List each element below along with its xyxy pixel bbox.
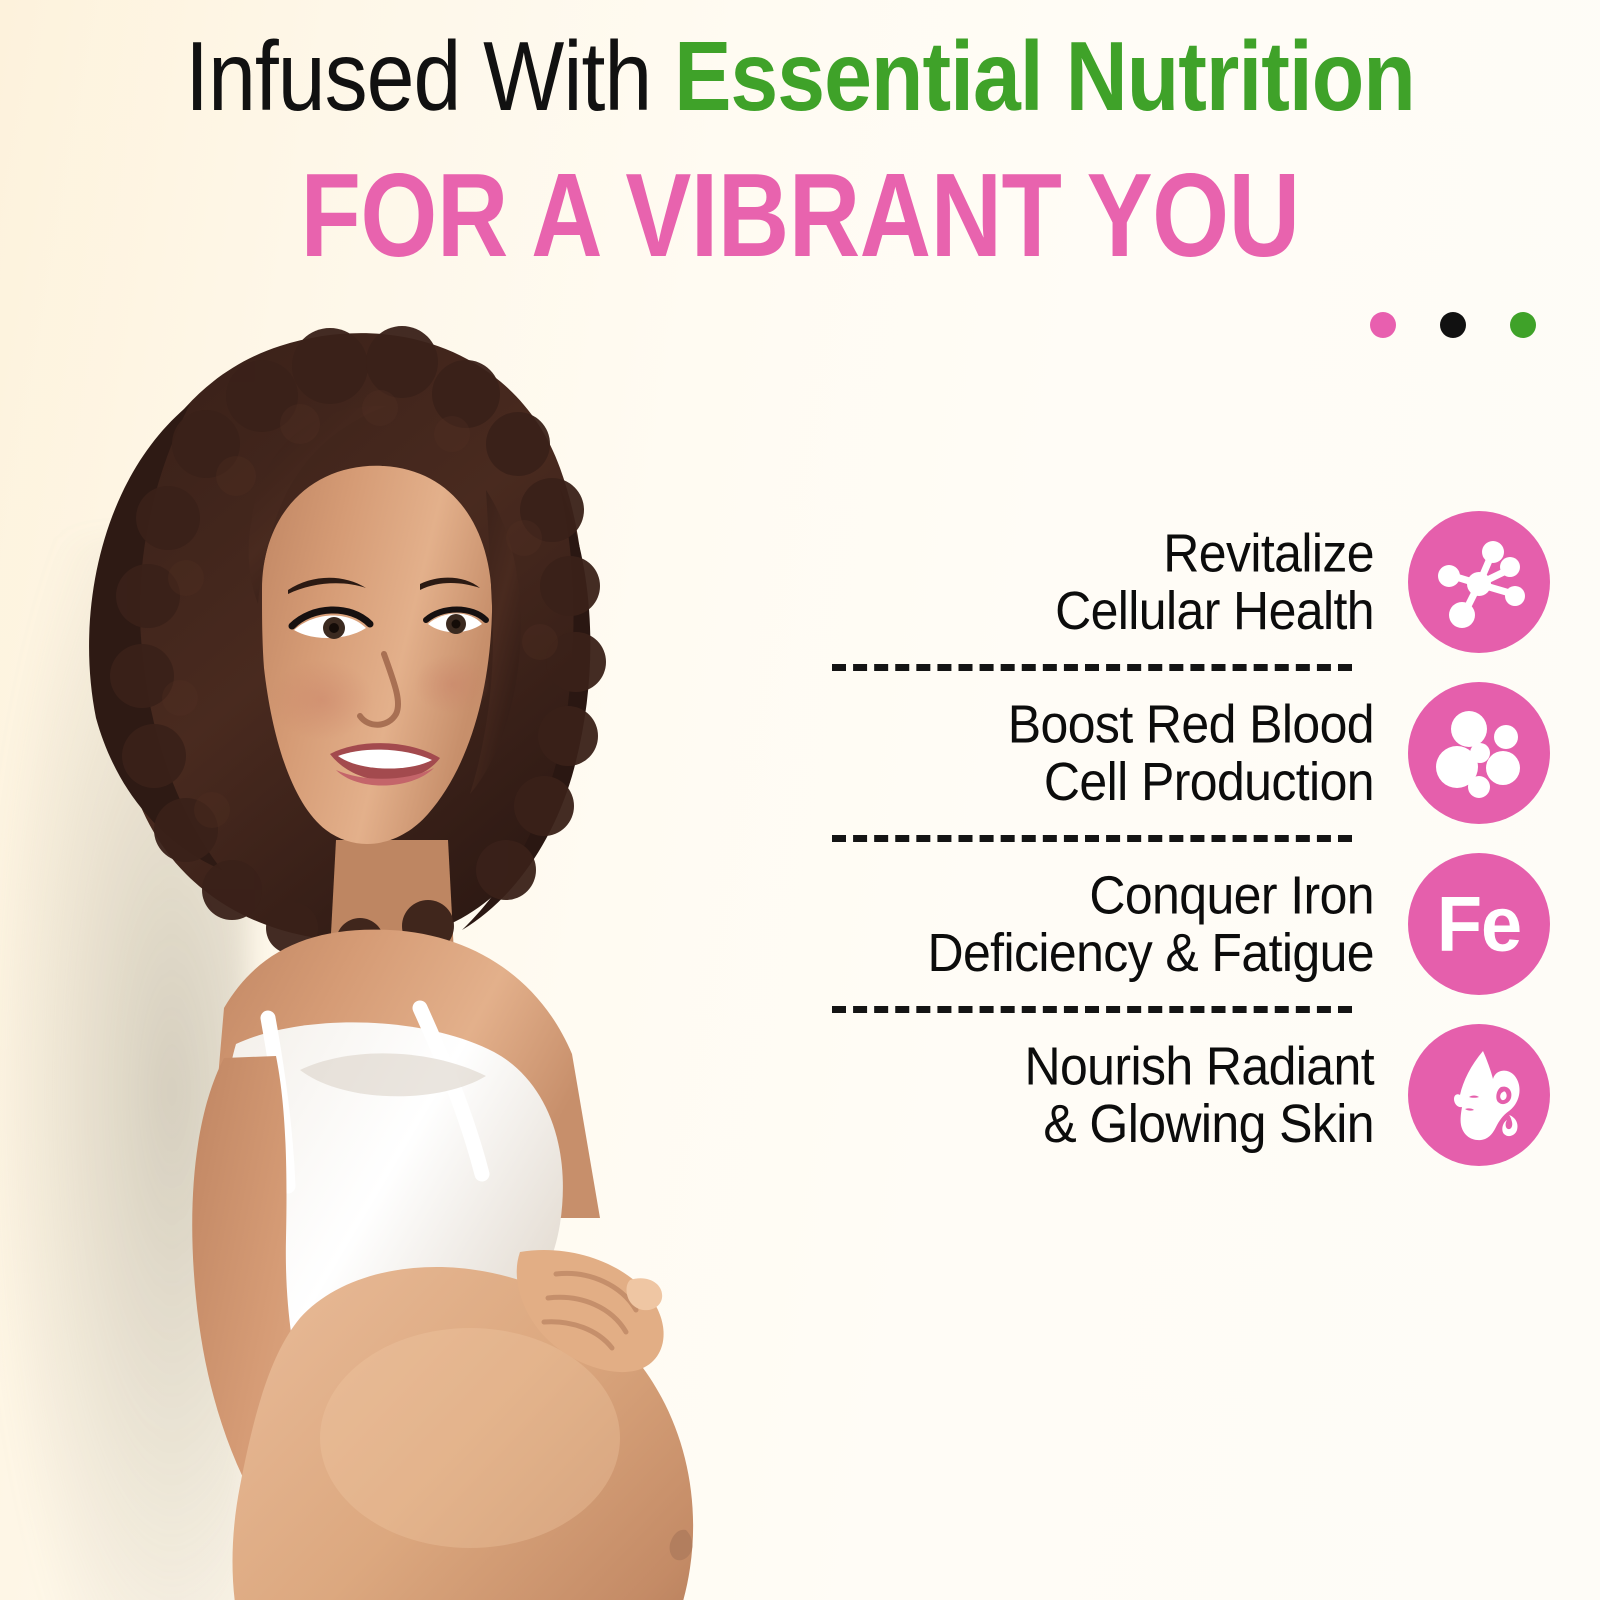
pregnant-woman-illustration [0,238,720,1600]
benefit-line-2: & Glowing Skin [1024,1095,1374,1153]
benefit-line-1: Nourish Radiant [1024,1037,1374,1095]
benefit-text: Nourish Radiant & Glowing Skin [1024,1037,1374,1153]
benefit-item-boost-red-blood-cell-production: Boost Red Blood Cell Production [760,671,1550,835]
dot-indicator-group [1370,312,1536,338]
iron-fe-icon-label: Fe [1437,885,1521,963]
benefit-text: Boost Red Blood Cell Production [1008,695,1374,811]
benefit-line-1: Boost Red Blood [1008,695,1374,753]
divider-row [760,835,1550,842]
molecule-icon [1408,511,1550,653]
blood-cells-icon-glyph [1427,701,1531,805]
benefit-divider-3 [832,1006,1352,1013]
benefits-list: Revitalize Cellular Health [760,500,1550,1177]
female-profile-icon-glyph [1427,1043,1531,1147]
benefit-divider-1 [832,664,1352,671]
headline-accent-text: Essential Nutrition [674,22,1415,131]
dot-black [1440,312,1466,338]
benefit-line-1: Revitalize [1055,524,1374,582]
blood-cells-icon [1408,682,1550,824]
promo-banner: Infused With Essential Nutrition FOR A V… [0,0,1600,1600]
dot-green [1510,312,1536,338]
molecule-icon-glyph [1429,532,1529,632]
benefit-text: Conquer Iron Deficiency & Fatigue [927,866,1374,982]
benefit-item-nourish-radiant-glowing-skin: Nourish Radiant & Glowing Skin [760,1013,1550,1177]
benefit-line-2: Cell Production [1008,753,1374,811]
headline-block: Infused With Essential Nutrition FOR A V… [0,28,1600,253]
iron-fe-icon: Fe [1408,853,1550,995]
headline-plain-text: Infused With [185,22,674,131]
benefit-divider-2 [832,835,1352,842]
benefit-line-2: Deficiency & Fatigue [927,924,1374,982]
benefit-item-conquer-iron-deficiency: Conquer Iron Deficiency & Fatigue Fe [760,842,1550,1006]
dot-pink [1370,312,1396,338]
benefit-line-1: Conquer Iron [927,866,1374,924]
benefit-item-revitalize-cellular-health: Revitalize Cellular Health [760,500,1550,664]
model-photo [0,238,720,1600]
divider-row [760,1006,1550,1013]
headline-line-1: Infused With Essential Nutrition [0,28,1600,128]
divider-row [760,664,1550,671]
female-profile-icon [1408,1024,1550,1166]
benefit-line-2: Cellular Health [1055,582,1374,640]
benefit-text: Revitalize Cellular Health [1055,524,1374,640]
